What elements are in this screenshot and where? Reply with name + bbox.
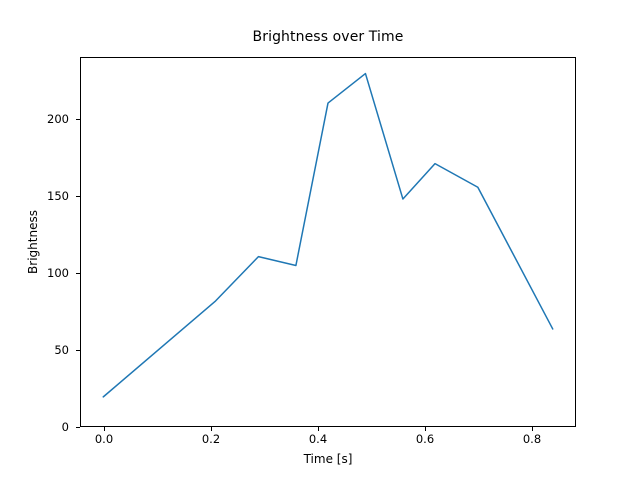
xtick-label-3: 0.6 bbox=[416, 432, 434, 446]
ytick-mark-3 bbox=[76, 196, 80, 197]
page-title: Brightness over Time bbox=[80, 29, 576, 45]
xtick-label-0: 0.0 bbox=[95, 432, 113, 446]
line-chart-canvas bbox=[80, 57, 576, 427]
xtick-mark-4 bbox=[532, 427, 533, 431]
data-series-brightness bbox=[103, 74, 552, 397]
ytick-label-2: 100 bbox=[47, 266, 69, 280]
y-axis-label: Brightness bbox=[26, 57, 40, 427]
ytick-label-4: 200 bbox=[47, 112, 69, 126]
xtick-label-4: 0.8 bbox=[523, 432, 541, 446]
xtick-mark-3 bbox=[425, 427, 426, 431]
ytick-label-0: 0 bbox=[62, 420, 69, 434]
ytick-mark-0 bbox=[76, 427, 80, 428]
matplotlib-figure: Brightness over Time 0.0 0.2 0.4 0.6 0.8… bbox=[0, 0, 640, 480]
xtick-label-1: 0.2 bbox=[202, 432, 220, 446]
ytick-mark-2 bbox=[76, 273, 80, 274]
xtick-label-2: 0.4 bbox=[309, 432, 327, 446]
ytick-mark-1 bbox=[76, 350, 80, 351]
xtick-mark-1 bbox=[211, 427, 212, 431]
ytick-mark-4 bbox=[76, 119, 80, 120]
xtick-mark-0 bbox=[104, 427, 105, 431]
ytick-label-1: 50 bbox=[54, 343, 69, 357]
x-axis-label: Time [s] bbox=[80, 452, 576, 466]
xtick-mark-2 bbox=[318, 427, 319, 431]
ytick-label-3: 150 bbox=[47, 189, 69, 203]
